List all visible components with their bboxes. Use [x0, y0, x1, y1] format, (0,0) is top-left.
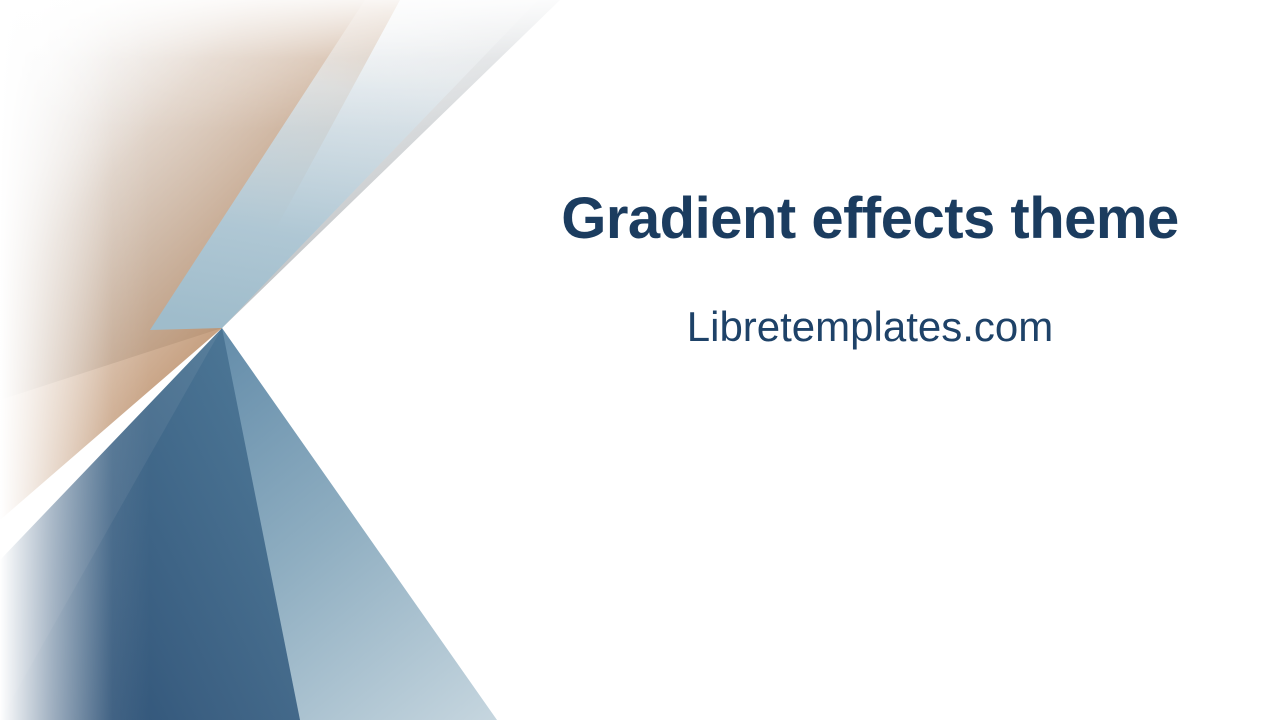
- gradient-triangles-graphic: [0, 0, 560, 720]
- left-fade-overlay: [0, 0, 150, 720]
- warm-upper-triangle: [0, 0, 400, 520]
- title-text-block: Gradient effects theme Libretemplates.co…: [540, 0, 1200, 720]
- gradient-artwork-svg: [0, 0, 560, 720]
- gray-upper-triangle: [0, 0, 560, 400]
- blue-diagonal-band: [150, 0, 538, 330]
- navy-lower-triangle: [0, 328, 300, 720]
- blue-lower-triangle: [0, 328, 497, 720]
- presentation-slide: Gradient effects theme Libretemplates.co…: [0, 0, 1280, 720]
- page-subtitle: Libretemplates.com: [540, 302, 1200, 352]
- top-fade-overlay: [0, 0, 560, 130]
- page-title: Gradient effects theme: [540, 186, 1200, 253]
